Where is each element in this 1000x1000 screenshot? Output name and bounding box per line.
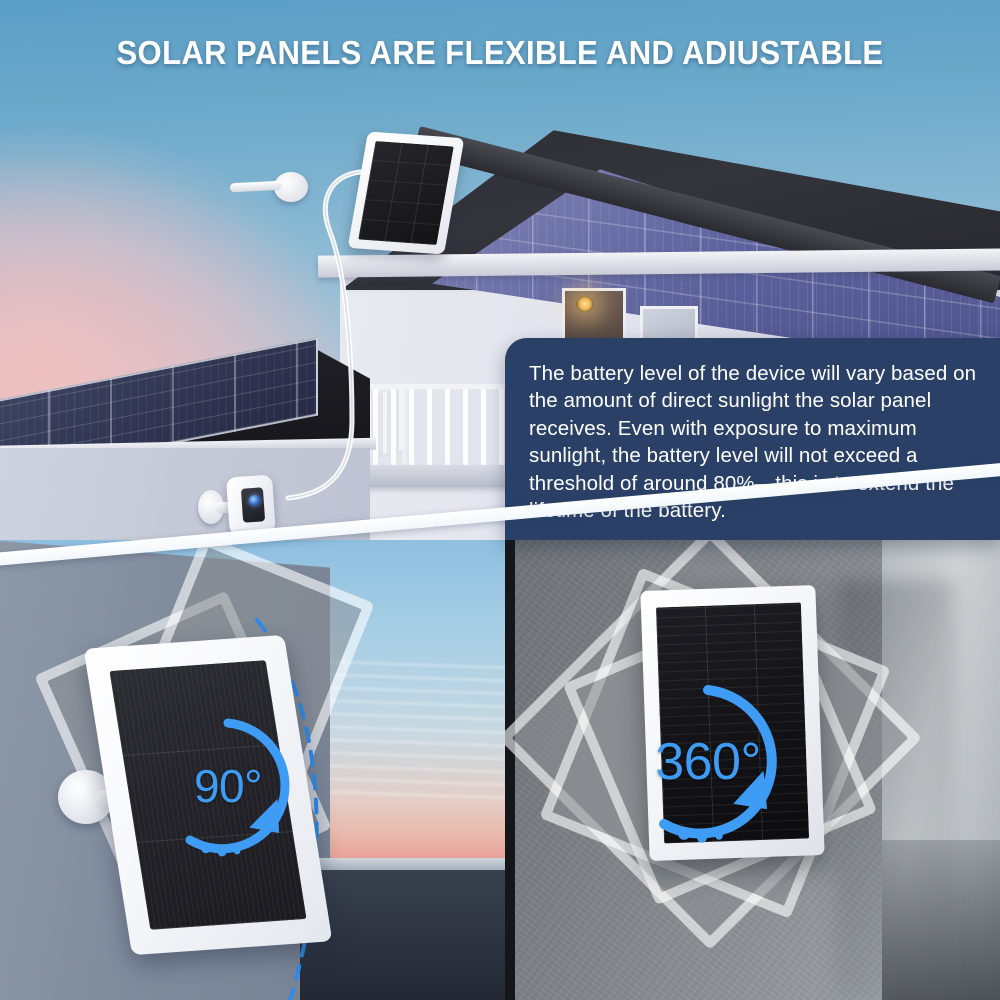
- rotation-badge-label: 360°: [618, 672, 798, 852]
- product-infographic: SOLAR PANELS ARE FLEXIBLE AND ADIUSTABLE…: [0, 0, 1000, 1000]
- mounted-mini-solar-panel: [348, 132, 465, 255]
- rotation-badge-label: 90°: [148, 706, 308, 866]
- wall-edge-shadow: [505, 540, 515, 1000]
- camera-lens-icon: [249, 495, 260, 506]
- rotation-badge-90: 90°: [148, 706, 308, 866]
- porch-lamp-icon: [576, 296, 594, 312]
- page-title: SOLAR PANELS ARE FLEXIBLE AND ADIUSTABLE: [30, 34, 970, 72]
- rotation-badge-360: 360°: [618, 672, 798, 852]
